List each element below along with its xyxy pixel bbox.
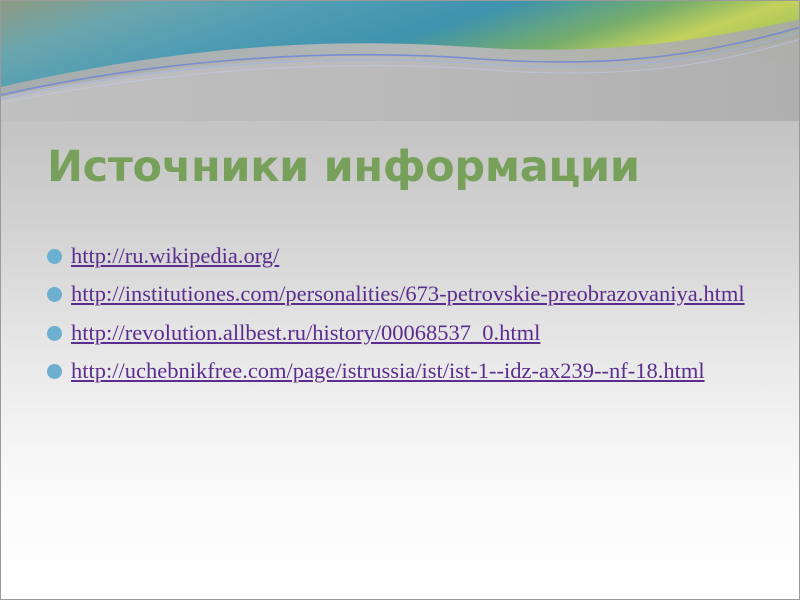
bullet-icon <box>47 326 62 341</box>
bullet-icon <box>47 364 62 379</box>
bullet-icon <box>47 249 62 264</box>
sources-list: http://ru.wikipedia.org/ http://institut… <box>41 241 757 394</box>
source-link[interactable]: http://institutiones.com/personalities/6… <box>71 281 745 306</box>
list-item: http://revolution.allbest.ru/history/000… <box>41 318 757 347</box>
slide: Источники информации http://ru.wikipedia… <box>0 0 800 600</box>
bullet-icon <box>47 287 62 302</box>
list-item: http://institutiones.com/personalities/6… <box>41 279 757 308</box>
source-link[interactable]: http://uchebnikfree.com/page/istrussia/i… <box>71 358 705 383</box>
list-item: http://ru.wikipedia.org/ <box>41 241 757 270</box>
page-title: Источники информации <box>47 144 757 191</box>
wave-banner <box>1 1 800 121</box>
list-item: http://uchebnikfree.com/page/istrussia/i… <box>41 356 757 385</box>
source-link[interactable]: http://revolution.allbest.ru/history/000… <box>71 320 540 345</box>
wave-banner-graphic <box>1 1 800 121</box>
source-link[interactable]: http://ru.wikipedia.org/ <box>71 243 279 268</box>
